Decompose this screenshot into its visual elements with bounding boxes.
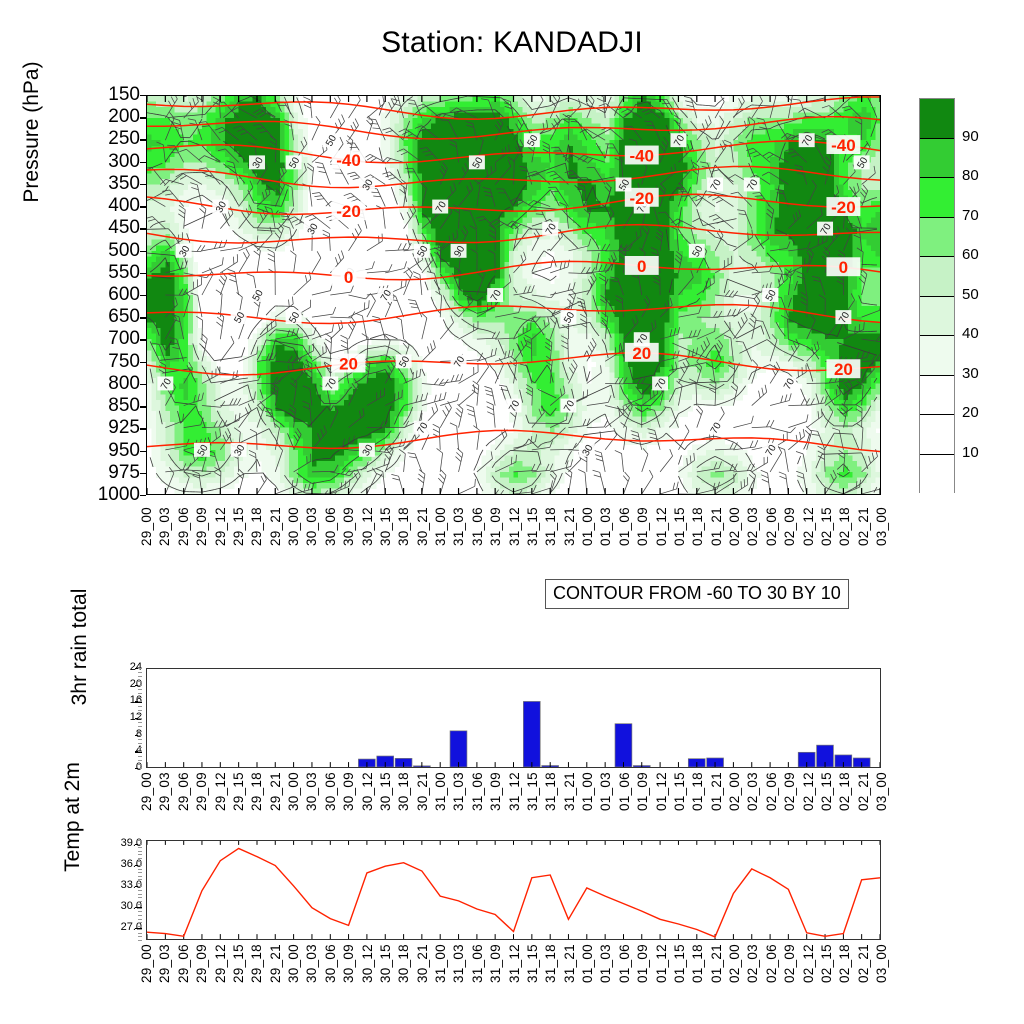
rain-minor-tick	[138, 743, 142, 744]
main-ytick: 300	[66, 151, 140, 173]
xaxis-tick-label: 01_18	[690, 772, 705, 811]
xaxis-tick-label: 31_18	[543, 507, 558, 546]
temp-minor-tick	[138, 851, 142, 852]
rain-minor-tick	[138, 697, 142, 698]
xaxis-tick-label: 31_03	[451, 944, 466, 983]
xaxis-tick-label: 02_06	[764, 944, 779, 983]
xaxis-tick-label: 29_09	[194, 507, 209, 546]
rain-minor-tick	[138, 672, 142, 673]
temp-minor-tick	[138, 936, 142, 937]
rain-svg	[147, 669, 880, 767]
temp-minor-tick	[138, 840, 142, 841]
main-ytick: 150	[66, 84, 140, 106]
xaxis-tick-label: 30_09	[341, 772, 356, 811]
xaxis-tick-label: 30_18	[396, 944, 411, 983]
temp-minor-tick	[138, 890, 142, 891]
xaxis-tick-label: 02_03	[745, 507, 760, 546]
xaxis-tick-label: 01_03	[598, 772, 613, 811]
xaxis-tick-label: 31_00	[433, 507, 448, 546]
xaxis-tick-label: 01_12	[654, 944, 669, 983]
temp-minor-tick	[138, 858, 142, 859]
colorbar-band[interactable]	[920, 139, 954, 179]
xaxis-tick-label: 01_18	[690, 507, 705, 546]
xaxis-tick-label: 01_00	[580, 772, 595, 811]
xaxis-tick-label: 01_21	[709, 772, 724, 811]
colorbar-band[interactable]	[920, 415, 954, 455]
xaxis-tick-label: 01_09	[635, 772, 650, 811]
xaxis-tick-label: 30_09	[341, 944, 356, 983]
xaxis-tick-label: 30_06	[323, 772, 338, 811]
xaxis-tick-label: 31_06	[470, 507, 485, 546]
colorbar-band[interactable]	[920, 455, 954, 495]
main-ytick: 200	[66, 106, 140, 128]
colorbar-band[interactable]	[920, 257, 954, 297]
rain-ytick: 0	[112, 761, 142, 773]
xaxis-tick-label: 02_12	[801, 772, 816, 811]
xaxis-tick-label: 30_18	[396, 772, 411, 811]
xaxis-tick-label: 29_06	[176, 772, 191, 811]
xaxis-tick-label: 30_18	[396, 507, 411, 546]
temp-ytick: 27.0	[104, 921, 142, 933]
temp-minor-tick	[138, 904, 142, 905]
xaxis-tick-label: 30_15	[378, 944, 393, 983]
xaxis-tick-label: 31_09	[488, 944, 503, 983]
temp-minor-tick	[138, 919, 142, 920]
rain-minor-tick	[138, 722, 142, 723]
main-ytick: 750	[66, 351, 140, 373]
colorbar-tick-label: 30	[962, 365, 979, 382]
xaxis-tick-label: 31_15	[525, 772, 540, 811]
temp-minor-tick	[138, 911, 142, 912]
xaxis-tick-label: 29_03	[157, 772, 172, 811]
temp-minor-tick	[138, 894, 142, 895]
temp-minor-tick	[138, 908, 142, 909]
xaxis-tick-label: 02_09	[782, 772, 797, 811]
xaxis-tick-label: 29_18	[249, 944, 264, 983]
xaxis-tick-label: 31_03	[451, 772, 466, 811]
xaxis-tick-label: 29_18	[249, 507, 264, 546]
temp-ytick: 39.0	[104, 837, 142, 849]
xaxis-tick-label: 01_12	[654, 507, 669, 546]
xaxis-tick-label: 02_03	[745, 772, 760, 811]
temp-minor-tick	[138, 915, 142, 916]
temperature-series-line	[147, 848, 880, 936]
xaxis-tick-label: 29_00	[139, 944, 154, 983]
xaxis-tick-label: 29_12	[213, 507, 228, 546]
main-yaxis-label: Pressure (hPa)	[20, 32, 44, 232]
xaxis-tick-label: 02_18	[837, 772, 852, 811]
xaxis-tick-label: 01_03	[598, 507, 613, 546]
xaxis-tick-label: 02_09	[782, 507, 797, 546]
xaxis-tick-label: 01_06	[617, 944, 632, 983]
main-ytick: 700	[66, 328, 140, 350]
xaxis-tick-label: 29_15	[231, 772, 246, 811]
temp-minor-tick	[138, 876, 142, 877]
main-ytick: 800	[66, 373, 140, 395]
xaxis-tick-label: 30_03	[304, 507, 319, 546]
rain-minor-tick	[138, 751, 142, 752]
rain-minor-tick	[138, 760, 142, 761]
xaxis-tick-label: 30_21	[415, 772, 430, 811]
xaxis-tick-label: 29_09	[194, 944, 209, 983]
colorbar-tick-label: 60	[962, 246, 979, 263]
temp-ytick: 30.0	[104, 900, 142, 912]
temp-xaxis-labels: 29_0029_0329_0629_0929_1229_1529_1829_21…	[146, 944, 881, 1014]
xaxis-tick-label: 01_15	[672, 772, 687, 811]
xaxis-tick-label: 30_06	[323, 944, 338, 983]
page-title: Station: KANDADJI	[0, 26, 1024, 60]
temp-minor-tick	[138, 940, 142, 941]
xaxis-tick-label: 29_06	[176, 944, 191, 983]
xaxis-tick-label: 31_06	[470, 772, 485, 811]
xaxis-tick-label: 31_06	[470, 944, 485, 983]
xaxis-tick-label: 02_06	[764, 507, 779, 546]
rain-minor-tick	[138, 681, 142, 682]
xaxis-tick-label: 01_00	[580, 944, 595, 983]
main-ytick: 650	[66, 306, 140, 328]
temperature-line-chart[interactable]	[146, 840, 881, 940]
colorbar-tick-label: 80	[962, 167, 979, 184]
rain-minor-tick	[138, 701, 142, 702]
rain-bars	[358, 701, 870, 767]
xaxis-tick-label: 01_21	[709, 507, 724, 546]
rain-minor-tick	[138, 693, 142, 694]
main-xaxis-labels: 29_0029_0329_0629_0929_1229_1529_1829_21…	[146, 507, 881, 577]
xaxis-tick-label: 30_00	[286, 944, 301, 983]
xaxis-tick-label: 31_18	[543, 944, 558, 983]
temp-svg	[147, 841, 880, 939]
rain-minor-tick	[138, 735, 142, 736]
temp-minor-tick	[138, 879, 142, 880]
xaxis-tick-label: 29_00	[139, 507, 154, 546]
xaxis-tick-label: 29_15	[231, 944, 246, 983]
xaxis-tick-label: 03_00	[874, 772, 889, 811]
colorbar-tick-label: 40	[962, 325, 979, 342]
xaxis-tick-label: 31_21	[562, 772, 577, 811]
xaxis-tick-label: 02_03	[745, 944, 760, 983]
rain-minor-tick	[138, 731, 142, 732]
xaxis-tick-label: 29_09	[194, 772, 209, 811]
xaxis-tick-label: 02_00	[727, 944, 742, 983]
xaxis-tick-label: 02_00	[727, 507, 742, 546]
main-ytick: 550	[66, 262, 140, 284]
xaxis-tick-label: 29_21	[268, 772, 283, 811]
xaxis-tick-label: 31_00	[433, 772, 448, 811]
xaxis-tick-label: 01_06	[617, 507, 632, 546]
xaxis-tick-label: 02_18	[837, 944, 852, 983]
temp-minor-tick	[138, 883, 142, 884]
temp-minor-tick	[138, 869, 142, 870]
rain-yaxis-ticks: 24201612840	[104, 662, 142, 774]
xaxis-tick-label: 02_21	[856, 772, 871, 811]
temp-minor-tick	[138, 897, 142, 898]
xaxis-tick-label: 29_12	[213, 944, 228, 983]
xaxis-tick-label: 01_09	[635, 944, 650, 983]
temp-minor-tick	[138, 872, 142, 873]
xaxis-tick-label: 02_12	[801, 944, 816, 983]
xaxis-tick-label: 30_03	[304, 944, 319, 983]
xaxis-tick-label: 30_21	[415, 944, 430, 983]
temp-minor-tick	[138, 844, 142, 845]
xaxis-tick-label: 31_15	[525, 507, 540, 546]
rain-minor-tick	[138, 714, 142, 715]
xaxis-tick-label: 29_00	[139, 772, 154, 811]
xaxis-tick-label: 30_00	[286, 507, 301, 546]
temp-minor-tick	[138, 926, 142, 927]
rain-minor-tick	[138, 747, 142, 748]
temp-minor-tick	[138, 929, 142, 930]
xaxis-tick-label: 03_00	[874, 944, 889, 983]
xaxis-tick-label: 01_21	[709, 944, 724, 983]
xaxis-tick-label: 02_09	[782, 944, 797, 983]
xaxis-tick-label: 31_09	[488, 507, 503, 546]
rain-minor-tick	[138, 764, 142, 765]
sounding-contour-plot[interactable]: 7050305030305030507050307050707090705070…	[146, 95, 881, 495]
main-ytick: 450	[66, 217, 140, 239]
xaxis-tick-label: 30_09	[341, 507, 356, 546]
xaxis-tick-label: 29_21	[268, 944, 283, 983]
xaxis-tick-label: 29_03	[157, 507, 172, 546]
humidity-colorbar[interactable]	[919, 98, 955, 493]
temp-yaxis-label: Temp at 2m	[61, 722, 85, 912]
colorbar-tick-label: 50	[962, 286, 979, 303]
temp-ytick: 33.0	[104, 879, 142, 891]
main-ytick: 400	[66, 195, 140, 217]
xaxis-tick-label: 31_15	[525, 944, 540, 983]
xaxis-tick-label: 01_09	[635, 507, 650, 546]
main-ytick: 500	[66, 240, 140, 262]
colorbar-band[interactable]	[920, 297, 954, 337]
main-ytick: 925	[66, 417, 140, 439]
main-ytick-mark	[140, 495, 146, 496]
xaxis-tick-label: 30_15	[378, 772, 393, 811]
xaxis-tick-label: 31_21	[562, 507, 577, 546]
xaxis-tick-label: 01_18	[690, 944, 705, 983]
rain-minor-tick	[138, 689, 142, 690]
temp-minor-tick	[138, 922, 142, 923]
xaxis-tick-label: 01_03	[598, 944, 613, 983]
colorbar-tick-label: 70	[962, 207, 979, 224]
temp-ytick: 36.0	[104, 858, 142, 870]
rain-minor-tick	[138, 710, 142, 711]
rain-minor-tick	[138, 756, 142, 757]
xaxis-tick-label: 30_21	[415, 507, 430, 546]
xaxis-tick-label: 30_15	[378, 507, 393, 546]
xaxis-tick-label: 31_18	[543, 772, 558, 811]
xaxis-tick-label: 01_15	[672, 944, 687, 983]
temp-minor-tick	[138, 854, 142, 855]
colorbar-tick-label: 20	[962, 404, 979, 421]
xaxis-tick-label: 31_03	[451, 507, 466, 546]
xaxis-tick-label: 01_12	[654, 772, 669, 811]
xaxis-tick-label: 30_12	[360, 507, 375, 546]
rain-yaxis-label: 3hr rain total	[68, 552, 92, 742]
xaxis-tick-label: 02_06	[764, 772, 779, 811]
xaxis-tick-label: 02_12	[801, 507, 816, 546]
main-ytick: 1000	[66, 484, 140, 506]
rain-minor-tick	[138, 676, 142, 677]
rain-minor-tick	[138, 706, 142, 707]
xaxis-tick-label: 30_03	[304, 772, 319, 811]
xaxis-tick-label: 29_15	[231, 507, 246, 546]
figure-root: Station: KANDADJI Pressure (hPa) 1502002…	[0, 0, 1024, 1024]
xaxis-tick-label: 29_06	[176, 507, 191, 546]
xaxis-tick-label: 30_00	[286, 772, 301, 811]
xaxis-tick-label: 30_12	[360, 944, 375, 983]
xaxis-tick-label: 01_00	[580, 507, 595, 546]
colorbar-band[interactable]	[920, 99, 954, 139]
xaxis-tick-label: 31_12	[507, 944, 522, 983]
main-ytick: 975	[66, 462, 140, 484]
colorbar-band[interactable]	[920, 336, 954, 376]
temp-minor-tick	[138, 861, 142, 862]
rain-minor-tick	[138, 739, 142, 740]
main-ytick: 950	[66, 440, 140, 462]
temp-minor-tick	[138, 933, 142, 934]
main-ytick: 600	[66, 284, 140, 306]
rain-xaxis-labels: 29_0029_0329_0629_0929_1229_1529_1829_21…	[146, 772, 881, 842]
xaxis-tick-label: 29_21	[268, 507, 283, 546]
temp-xaxis-tickmarks	[147, 841, 880, 939]
rain-minor-tick	[138, 726, 142, 727]
xaxis-tick-label: 29_12	[213, 772, 228, 811]
colorbar-band[interactable]	[920, 218, 954, 258]
main-ytick: 250	[66, 128, 140, 150]
xaxis-tick-label: 02_15	[819, 507, 834, 546]
xaxis-tick-label: 31_09	[488, 772, 503, 811]
xaxis-tick-label: 02_21	[856, 944, 871, 983]
rain-minor-tick	[138, 768, 142, 769]
temp-minor-tick	[138, 865, 142, 866]
colorbar-band[interactable]	[920, 178, 954, 218]
xaxis-tick-label: 31_12	[507, 507, 522, 546]
temp-minor-tick	[138, 847, 142, 848]
rain-minor-tick	[138, 668, 142, 669]
xaxis-tick-label: 01_15	[672, 507, 687, 546]
colorbar-band[interactable]	[920, 376, 954, 416]
xaxis-tick-label: 03_00	[874, 507, 889, 546]
main-ytick: 350	[66, 173, 140, 195]
xaxis-tick-label: 31_00	[433, 944, 448, 983]
xaxis-tick-label: 31_21	[562, 944, 577, 983]
temp-yaxis-ticks: 39.036.033.030.027.0	[96, 834, 142, 946]
xaxis-tick-label: 31_12	[507, 772, 522, 811]
rain-minor-tick	[138, 718, 142, 719]
contour-svg: 7050305030305030507050307050707090705070…	[147, 96, 880, 494]
temp-minor-tick	[138, 901, 142, 902]
xaxis-tick-label: 01_06	[617, 772, 632, 811]
contour-note: CONTOUR FROM -60 TO 30 BY 10	[545, 579, 849, 609]
rain-bar-chart[interactable]	[146, 668, 881, 768]
xaxis-tick-label: 02_15	[819, 944, 834, 983]
colorbar-tick-label: 10	[962, 444, 979, 461]
rain-minor-tick	[138, 685, 142, 686]
xaxis-tick-label: 02_21	[856, 507, 871, 546]
rain-xaxis-tickmarks	[147, 762, 880, 767]
xaxis-tick-label: 02_00	[727, 772, 742, 811]
xaxis-tick-label: 30_06	[323, 507, 338, 546]
xaxis-tick-label: 30_12	[360, 772, 375, 811]
main-yaxis-ticks: 1502002503003504004505005506006507007508…	[66, 95, 140, 495]
xaxis-tick-label: 02_18	[837, 507, 852, 546]
main-ytick: 850	[66, 395, 140, 417]
xaxis-tick-label: 29_18	[249, 772, 264, 811]
xaxis-tick-label: 02_15	[819, 772, 834, 811]
xaxis-tick-label: 29_03	[157, 944, 172, 983]
temp-minor-tick	[138, 886, 142, 887]
colorbar-tick-label: 90	[962, 128, 979, 145]
